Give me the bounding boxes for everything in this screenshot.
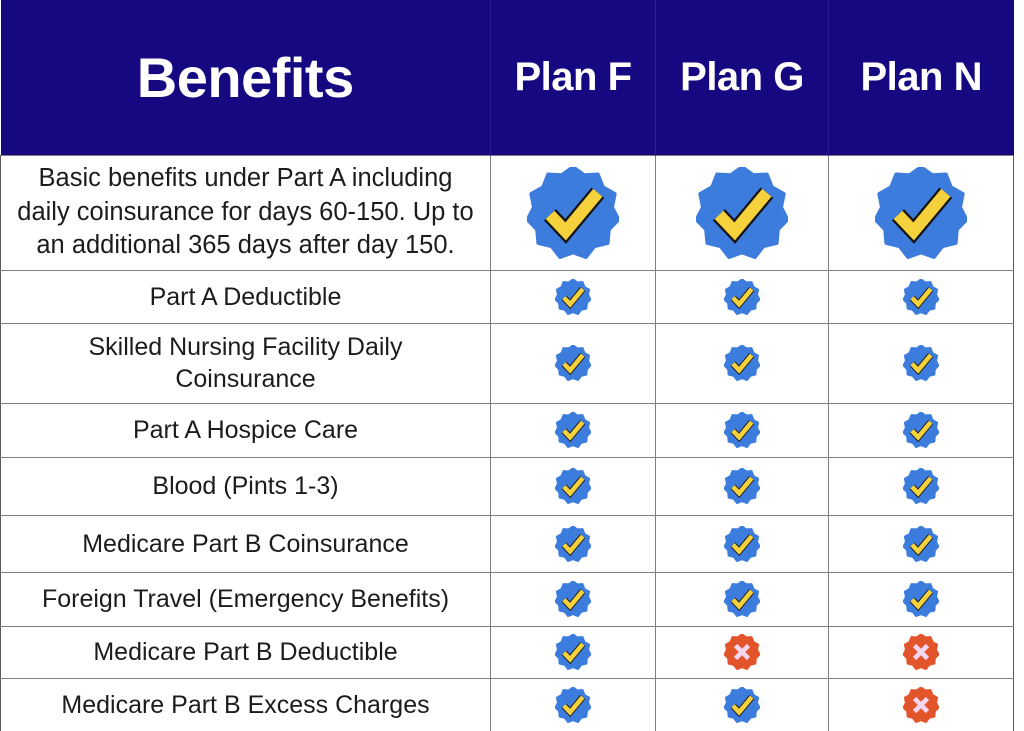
- cell-plan-n: [829, 515, 1014, 572]
- cell-plan-f: [491, 323, 656, 403]
- cell-plan-g: [656, 270, 829, 323]
- check-badge-icon: [555, 526, 591, 562]
- table-row: Part A Deductible: [1, 270, 1014, 323]
- cell-plan-n: [829, 626, 1014, 678]
- header-row: Benefits Plan F Plan G Plan N: [1, 0, 1014, 155]
- cell-plan-f: [491, 403, 656, 457]
- benefit-label: Basic benefits under Part A including da…: [1, 155, 491, 270]
- benefit-label: Blood (Pints 1-3): [1, 457, 491, 515]
- cell-plan-n: [829, 270, 1014, 323]
- cell-plan-g: [656, 515, 829, 572]
- check-badge-icon: [555, 634, 591, 670]
- check-badge-icon: [724, 279, 760, 315]
- table-row: Medicare Part B Excess Charges: [1, 678, 1014, 731]
- benefit-label: Part A Deductible: [1, 270, 491, 323]
- check-badge-icon: [903, 468, 939, 504]
- table-row: Blood (Pints 1-3): [1, 457, 1014, 515]
- medicare-supplement-plan-comparison-table: Benefits Plan F Plan G Plan N Basic bene…: [0, 0, 1014, 731]
- check-badge-icon: [555, 581, 591, 617]
- cell-plan-f: [491, 270, 656, 323]
- check-badge-icon: [696, 167, 788, 259]
- table-body: Basic benefits under Part A including da…: [1, 155, 1014, 731]
- table-row: Skilled Nursing Facility Daily Coinsuran…: [1, 323, 1014, 403]
- check-badge-icon: [903, 412, 939, 448]
- benefit-label: Medicare Part B Deductible: [1, 626, 491, 678]
- cell-plan-n: [829, 155, 1014, 270]
- cell-plan-f: [491, 155, 656, 270]
- table-row: Medicare Part B Deductible: [1, 626, 1014, 678]
- cell-plan-n: [829, 403, 1014, 457]
- table-row: Foreign Travel (Emergency Benefits): [1, 572, 1014, 626]
- cross-badge-icon: [724, 634, 760, 670]
- benefit-label: Part A Hospice Care: [1, 403, 491, 457]
- check-badge-icon: [724, 526, 760, 562]
- cell-plan-g: [656, 626, 829, 678]
- check-badge-icon: [724, 345, 760, 381]
- check-badge-icon: [903, 279, 939, 315]
- cell-plan-f: [491, 572, 656, 626]
- cell-plan-g: [656, 155, 829, 270]
- check-badge-icon: [555, 279, 591, 315]
- cell-plan-n: [829, 457, 1014, 515]
- check-badge-icon: [903, 345, 939, 381]
- column-header-benefits: Benefits: [1, 0, 491, 155]
- benefit-label: Medicare Part B Coinsurance: [1, 515, 491, 572]
- cell-plan-g: [656, 323, 829, 403]
- cell-plan-f: [491, 457, 656, 515]
- benefit-label: Foreign Travel (Emergency Benefits): [1, 572, 491, 626]
- check-badge-icon: [555, 345, 591, 381]
- benefit-label: Medicare Part B Excess Charges: [1, 678, 491, 731]
- check-badge-icon: [875, 167, 967, 259]
- column-header-plan-n: Plan N: [829, 0, 1014, 155]
- table-row: Basic benefits under Part A including da…: [1, 155, 1014, 270]
- check-badge-icon: [724, 581, 760, 617]
- cell-plan-g: [656, 457, 829, 515]
- benefit-label: Skilled Nursing Facility Daily Coinsuran…: [1, 323, 491, 403]
- comparison-sheet: Benefits Plan F Plan G Plan N Basic bene…: [0, 0, 1024, 731]
- table-row: Medicare Part B Coinsurance: [1, 515, 1014, 572]
- check-badge-icon: [724, 412, 760, 448]
- cell-plan-f: [491, 678, 656, 731]
- check-badge-icon: [724, 468, 760, 504]
- check-badge-icon: [903, 526, 939, 562]
- cell-plan-f: [491, 515, 656, 572]
- cell-plan-f: [491, 626, 656, 678]
- cell-plan-n: [829, 678, 1014, 731]
- cross-badge-icon: [903, 687, 939, 723]
- cross-badge-icon: [903, 634, 939, 670]
- table-header: Benefits Plan F Plan G Plan N: [1, 0, 1014, 155]
- table-row: Part A Hospice Care: [1, 403, 1014, 457]
- cell-plan-g: [656, 572, 829, 626]
- check-badge-icon: [555, 468, 591, 504]
- check-badge-icon: [555, 687, 591, 723]
- check-badge-icon: [724, 687, 760, 723]
- column-header-plan-f: Plan F: [491, 0, 656, 155]
- cell-plan-n: [829, 572, 1014, 626]
- column-header-plan-g: Plan G: [656, 0, 829, 155]
- cell-plan-n: [829, 323, 1014, 403]
- cell-plan-g: [656, 403, 829, 457]
- check-badge-icon: [555, 412, 591, 448]
- cell-plan-g: [656, 678, 829, 731]
- check-badge-icon: [903, 581, 939, 617]
- check-badge-icon: [527, 167, 619, 259]
